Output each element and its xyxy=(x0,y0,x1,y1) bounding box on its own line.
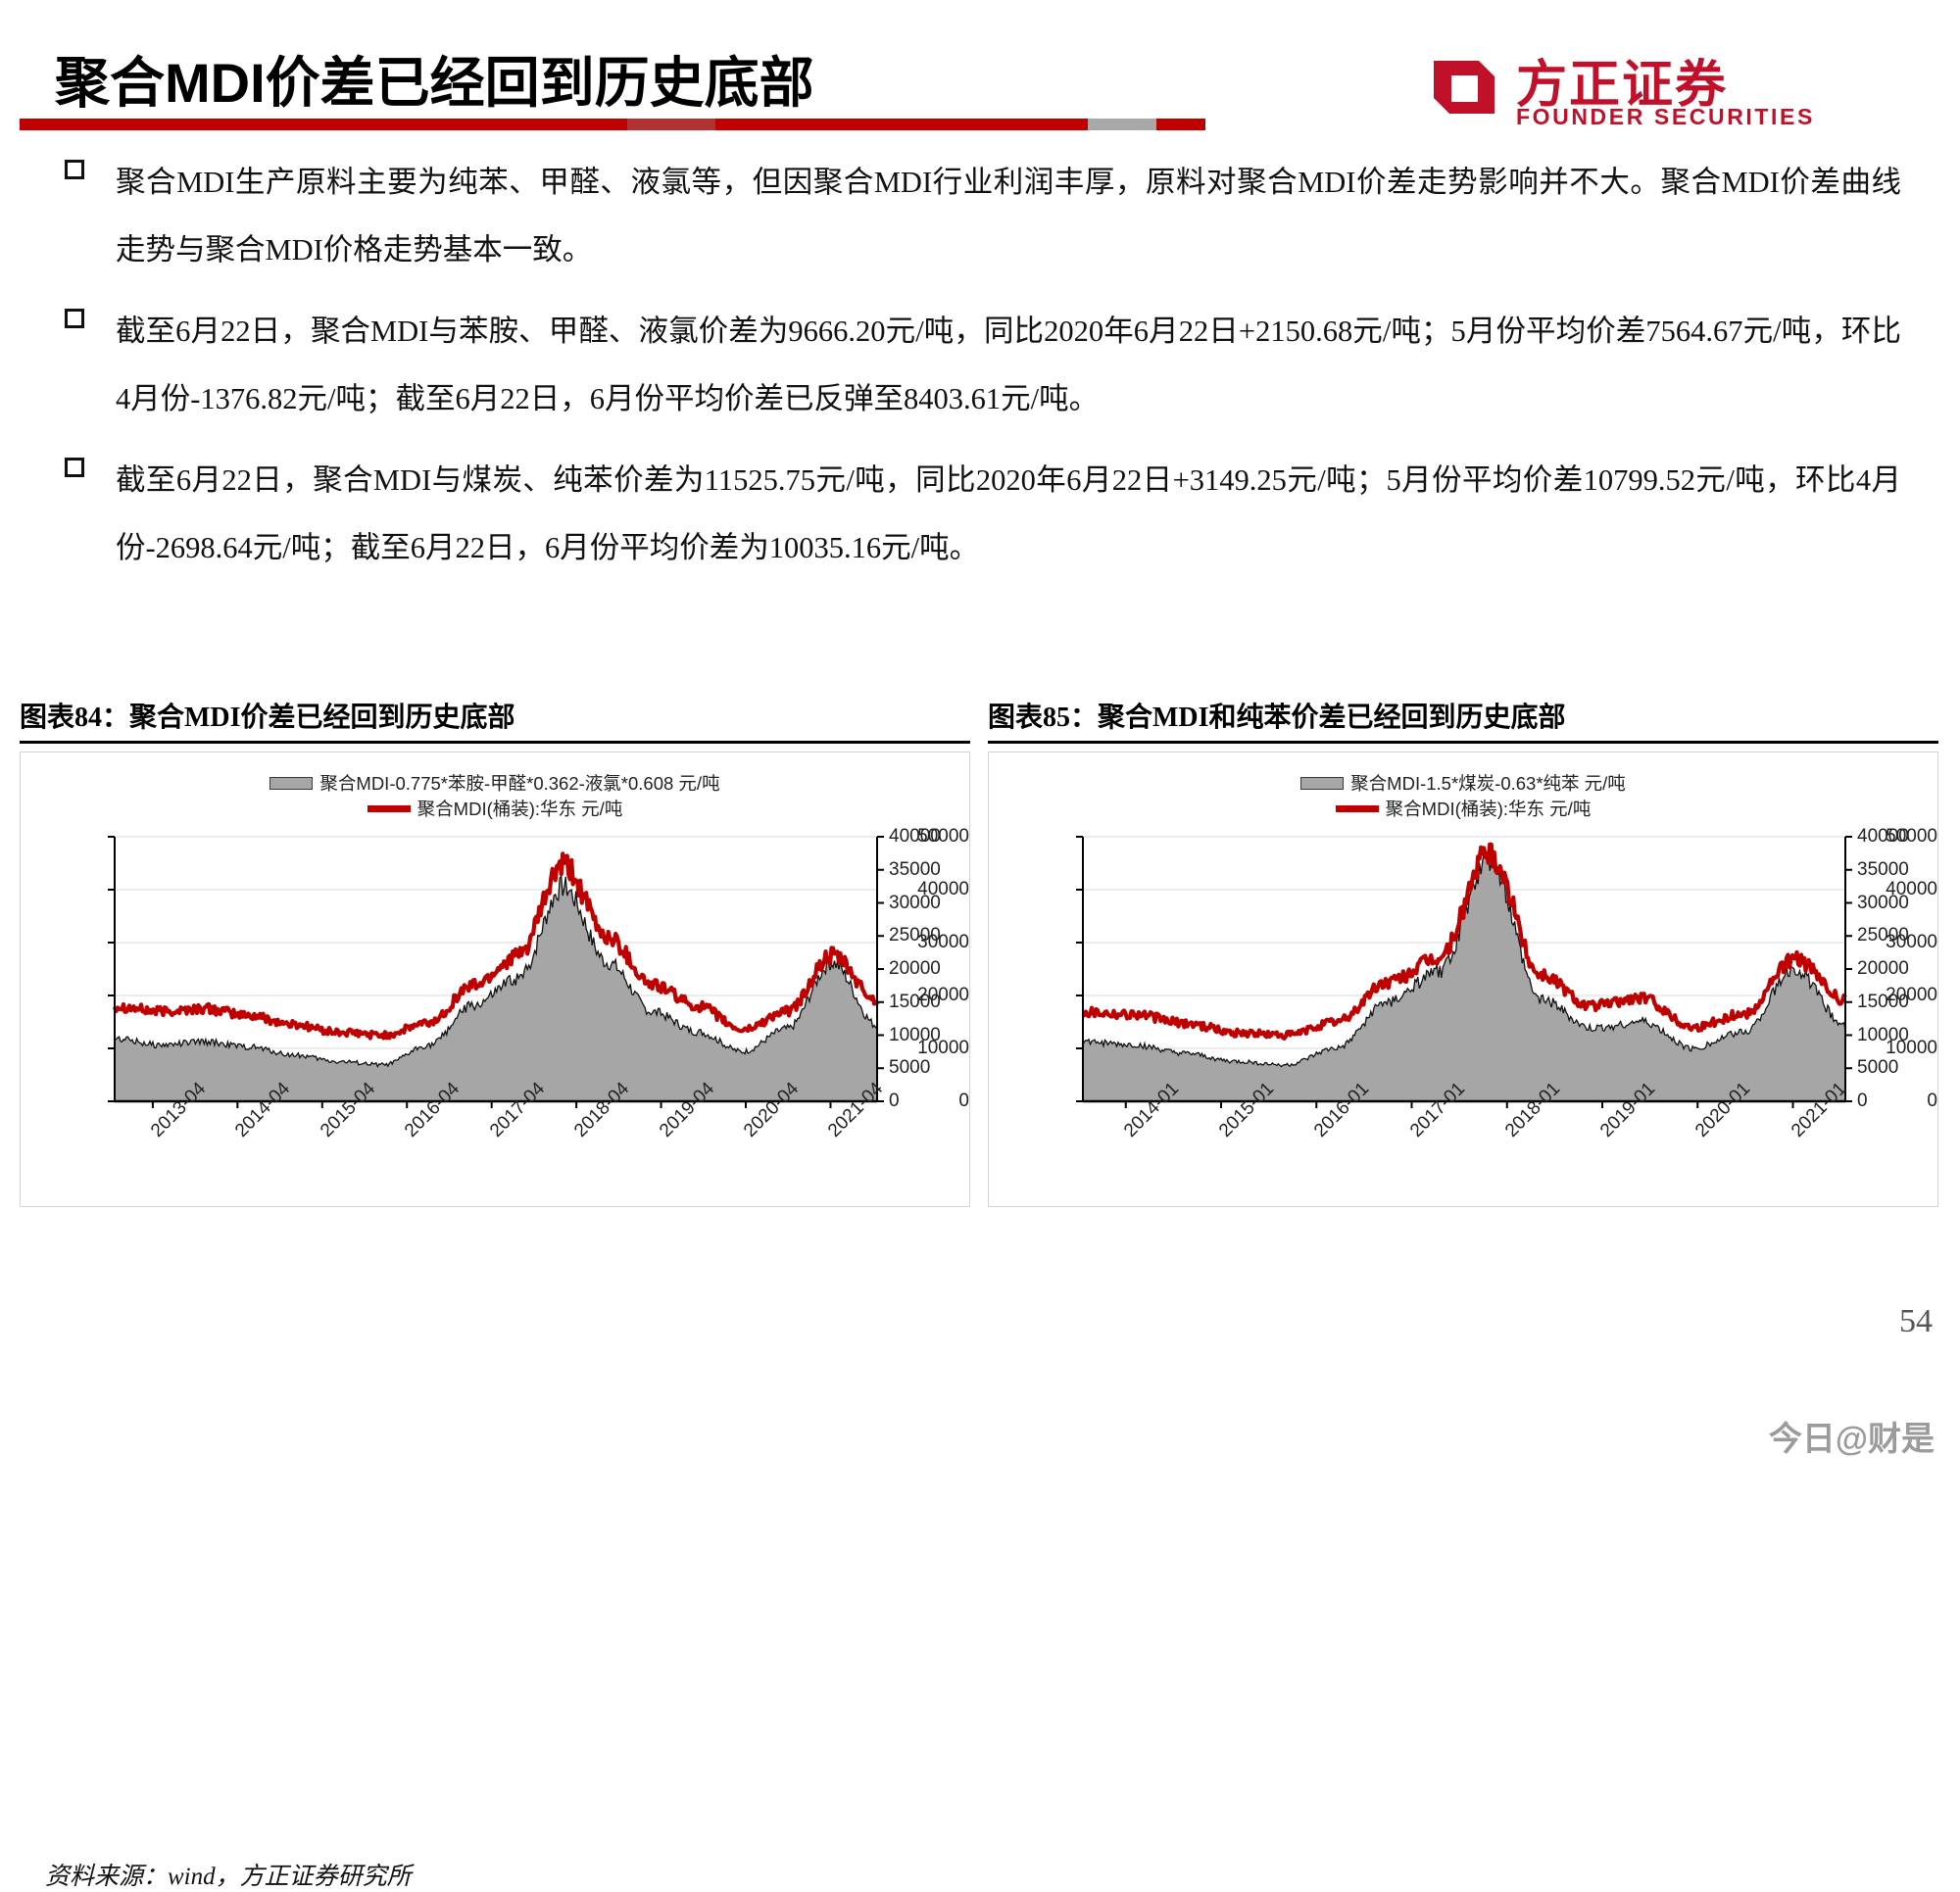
figure-85-plot: 0100002000030000400005000005000100001500… xyxy=(989,829,1937,1118)
caption-divider xyxy=(988,741,1938,744)
figure-85-caption: 图表85：聚合MDI和纯苯价差已经回到历史底部 xyxy=(988,696,1938,735)
figure-85-panel: 图表85：聚合MDI和纯苯价差已经回到历史底部 聚合MDI-1.5*煤炭-0.6… xyxy=(988,696,1938,1207)
legend-label: 聚合MDI-1.5*煤炭-0.63*纯苯 元/吨 xyxy=(1350,770,1626,796)
y2-axis-tick-label: 40000 xyxy=(1857,826,1909,848)
y-axis-tick-label: 0 xyxy=(1855,1091,1937,1112)
y2-axis-tick-label: 0 xyxy=(1857,1091,1868,1112)
y2-axis-tick-label: 20000 xyxy=(889,958,941,980)
area-swatch-icon xyxy=(269,777,313,790)
page-title: 聚合MDI价差已经回到历史底部 xyxy=(55,39,814,119)
watermark: 今日@财是 xyxy=(1769,1412,1935,1460)
figure-85-svg xyxy=(989,829,1939,1123)
y2-axis-tick-label: 30000 xyxy=(1857,893,1909,914)
area-swatch-icon xyxy=(1300,777,1344,790)
brand-logo: 方正证券 FOUNDER SECURITIES xyxy=(1426,43,1926,136)
bullet-item: 截至6月22日，聚合MDI与煤炭、纯苯价差为11525.75元/吨，同比2020… xyxy=(59,447,1901,582)
figure-84-panel: 图表84：聚合MDI价差已经回到历史底部 聚合MDI-0.775*苯胺-甲醛*0… xyxy=(20,696,970,1207)
legend-label: 聚合MDI(桶装):华东 元/吨 xyxy=(1386,796,1592,821)
bullet-square-icon xyxy=(65,160,84,179)
y2-axis-tick-label: 20000 xyxy=(1857,958,1909,980)
logo-text-en: FOUNDER SECURITIES xyxy=(1516,104,1815,130)
figure-84-caption: 图表84：聚合MDI价差已经回到历史底部 xyxy=(20,696,970,735)
y2-axis-tick-label: 40000 xyxy=(889,826,941,848)
y-axis-tick-label: 0 xyxy=(887,1091,969,1112)
y2-axis-tick-label: 25000 xyxy=(1857,925,1909,946)
title-divider xyxy=(20,119,1205,130)
bullet-square-icon xyxy=(65,309,84,328)
founder-logo-icon xyxy=(1426,49,1502,125)
y2-axis-tick-label: 35000 xyxy=(889,859,941,881)
y2-axis-tick-label: 15000 xyxy=(1857,992,1909,1013)
bullet-text: 截至6月22日，聚合MDI与煤炭、纯苯价差为11525.75元/吨，同比2020… xyxy=(116,447,1901,582)
y2-axis-tick-label: 25000 xyxy=(889,925,941,946)
bullet-square-icon xyxy=(65,458,84,477)
legend-label: 聚合MDI(桶装):华东 元/吨 xyxy=(417,796,623,821)
y2-axis-tick-label: 30000 xyxy=(889,893,941,914)
figure-85-xaxis: 2014-012015-012016-012017-012018-012019-… xyxy=(989,1121,1937,1207)
y2-axis-tick-label: 15000 xyxy=(889,992,941,1013)
figure-84-source: 资料来源：wind，方正证券研究所 xyxy=(45,1857,412,1892)
page-header: 聚合MDI价差已经回到历史底部 方正证券 FOUNDER SECURITIES xyxy=(0,0,1960,147)
legend-entry-area: 聚合MDI-0.775*苯胺-甲醛*0.362-液氯*0.608 元/吨 xyxy=(21,770,969,796)
bullet-item: 截至6月22日，聚合MDI与苯胺、甲醛、液氯价差为9666.20元/吨，同比20… xyxy=(59,298,1901,433)
page-number: 54 xyxy=(1899,1303,1933,1340)
legend-entry-line: 聚合MDI(桶装):华东 元/吨 xyxy=(21,796,969,821)
y2-axis-tick-label: 5000 xyxy=(1857,1057,1898,1079)
legend-entry-line: 聚合MDI(桶装):华东 元/吨 xyxy=(989,796,1937,821)
line-swatch-icon xyxy=(1336,805,1379,812)
figure-84-xaxis: 2013-042014-042015-042016-042017-042018-… xyxy=(21,1121,969,1207)
figure-85-legend: 聚合MDI-1.5*煤炭-0.63*纯苯 元/吨 聚合MDI(桶装):华东 元/… xyxy=(989,770,1937,821)
figure-84-legend: 聚合MDI-0.775*苯胺-甲醛*0.362-液氯*0.608 元/吨 聚合M… xyxy=(21,770,969,821)
line-swatch-icon xyxy=(367,805,411,812)
figure-84-plot: 0100002000030000400005000005000100001500… xyxy=(21,829,969,1118)
figure-85-chart: 聚合MDI-1.5*煤炭-0.63*纯苯 元/吨 聚合MDI(桶装):华东 元/… xyxy=(988,752,1938,1207)
legend-label: 聚合MDI-0.775*苯胺-甲醛*0.362-液氯*0.608 元/吨 xyxy=(319,770,719,796)
bullet-text: 截至6月22日，聚合MDI与苯胺、甲醛、液氯价差为9666.20元/吨，同比20… xyxy=(116,298,1901,433)
y2-axis-tick-label: 35000 xyxy=(1857,859,1909,881)
bullet-list: 聚合MDI生产原料主要为纯苯、甲醛、液氯等，但因聚合MDI行业利润丰厚，原料对聚… xyxy=(59,149,1901,596)
y2-axis-tick-label: 0 xyxy=(889,1091,900,1112)
legend-entry-area: 聚合MDI-1.5*煤炭-0.63*纯苯 元/吨 xyxy=(989,770,1937,796)
figure-84-svg xyxy=(21,829,971,1123)
y2-axis-tick-label: 5000 xyxy=(889,1057,930,1079)
y2-axis-tick-label: 10000 xyxy=(889,1025,941,1046)
caption-divider xyxy=(20,741,970,744)
y2-axis-tick-label: 10000 xyxy=(1857,1025,1909,1046)
figure-84-chart: 聚合MDI-0.775*苯胺-甲醛*0.362-液氯*0.608 元/吨 聚合M… xyxy=(20,752,970,1207)
bullet-text: 聚合MDI生产原料主要为纯苯、甲醛、液氯等，但因聚合MDI行业利润丰厚，原料对聚… xyxy=(116,149,1901,284)
bullet-item: 聚合MDI生产原料主要为纯苯、甲醛、液氯等，但因聚合MDI行业利润丰厚，原料对聚… xyxy=(59,149,1901,284)
